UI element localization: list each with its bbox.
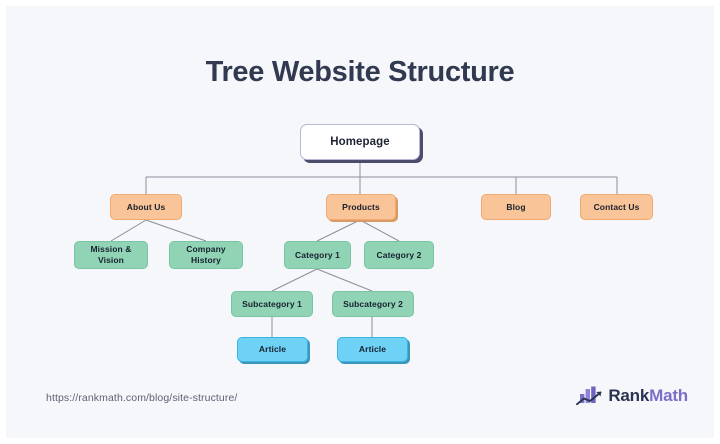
brand-rank-text: Rank [608,386,649,405]
brand-wordmark: RankMath [608,386,688,406]
rankmath-logo: RankMath [576,385,688,407]
node-category-1[interactable]: Category 1 [284,241,351,269]
node-homepage[interactable]: Homepage [300,124,420,160]
bar-chart-trend-icon [576,385,602,407]
node-contact-us[interactable]: Contact Us [580,194,653,220]
node-products[interactable]: Products [326,194,396,220]
diagram-canvas: Tree Website Structure Hom [0,0,720,444]
link-about-to-mission [111,220,146,241]
node-subcategory-1[interactable]: Subcategory 1 [231,291,313,317]
node-category-2[interactable]: Category 2 [364,241,434,269]
source-url-label: https://rankmath.com/blog/site-structure… [46,392,237,404]
connector-lines [0,0,720,444]
node-about-us[interactable]: About Us [110,194,182,220]
node-article-1[interactable]: Article [237,337,308,362]
node-company-history[interactable]: Company History [169,241,243,269]
node-article-2[interactable]: Article [337,337,408,362]
link-products-to-category-1 [317,220,360,241]
brand-math-text: Math [649,386,688,405]
link-category1-to-sub1 [272,269,317,291]
link-category1-to-sub2 [317,269,372,291]
link-about-to-history [146,220,206,241]
node-subcategory-2[interactable]: Subcategory 2 [332,291,414,317]
link-products-to-category-2 [360,220,399,241]
node-mission-vision[interactable]: Mission & Vision [74,241,148,269]
node-blog[interactable]: Blog [481,194,551,220]
